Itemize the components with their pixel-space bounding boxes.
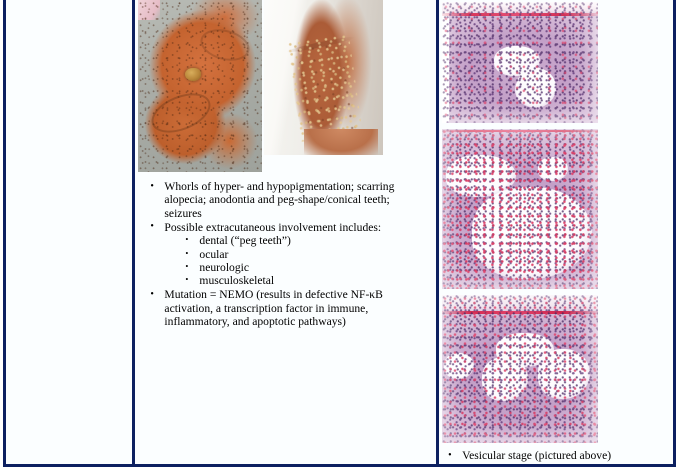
feature-bullet-text: Mutation = NEMO (results in defective NF… [164, 288, 382, 328]
sub-bullet: musculoskeletal [183, 274, 428, 287]
sub-bullet: dental (“peg teeth”) [183, 234, 428, 247]
histology-caption: Vesicular stage (pictured above) [439, 449, 673, 462]
clinical-features-list: Whorls of hyper- and hypopigmentation; s… [135, 180, 436, 328]
histology-vignette [442, 2, 598, 123]
feature-bullet: Whorls of hyper- and hypopigmentation; s… [147, 180, 428, 220]
extracutaneous-sublist: dental (“peg teeth”) ocular neurologic m… [164, 234, 428, 288]
histology-low-power [442, 2, 598, 123]
sub-bullet-text: ocular [199, 248, 228, 261]
infant-torso-photo [138, 0, 262, 172]
feature-bullet-text: Whorls of hyper- and hypopigmentation; s… [164, 180, 394, 220]
sub-bullet-text: musculoskeletal [199, 274, 274, 287]
sub-bullet: neurologic [183, 261, 428, 274]
infant-photo-pigment-speckle [138, 0, 262, 172]
reference-table: Whorls of hyper- and hypopigmentation; s… [3, 0, 676, 467]
sub-bullet-text: dental (“peg teeth”) [199, 234, 290, 247]
sub-bullet: ocular [183, 248, 428, 261]
histology-vignette [442, 129, 598, 289]
feature-bullet-text: Possible extracutaneous involvement incl… [164, 221, 381, 234]
histology-vignette [442, 295, 598, 443]
feature-bullet: Mutation = NEMO (results in defective NF… [147, 288, 428, 328]
sub-bullet-text: neurologic [199, 261, 249, 274]
arm-photo-examiner-hand [304, 129, 378, 155]
histology-eosinophilic-spongiosis [442, 295, 598, 443]
arm-vesicles-photo [264, 0, 383, 155]
caption-bullet: Vesicular stage (pictured above) [445, 449, 667, 462]
condition-column [6, 0, 135, 464]
histology-image-stack [439, 0, 673, 443]
clinical-features-column: Whorls of hyper- and hypopigmentation; s… [135, 0, 439, 464]
document-page: Whorls of hyper- and hypopigmentation; s… [0, 0, 679, 470]
caption-bullet-text: Vesicular stage (pictured above) [462, 449, 611, 462]
histopathology-column: Vesicular stage (pictured above) [439, 0, 673, 464]
histology-high-power-eosinophils [442, 129, 598, 289]
feature-bullet: Possible extracutaneous involvement incl… [147, 221, 428, 288]
clinical-photo-row [135, 0, 436, 172]
